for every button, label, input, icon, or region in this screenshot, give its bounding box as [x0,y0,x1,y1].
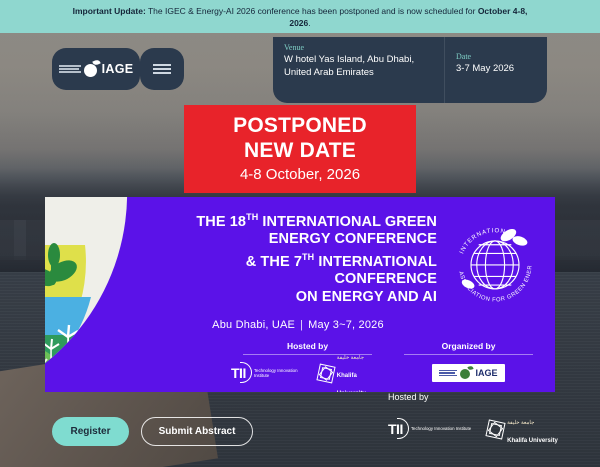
globe-leaf-icon [84,62,99,77]
khalifa-english-text: Khalifa University [337,373,366,392]
footer-hosted-by-label: Hosted by [355,392,585,402]
footer-tii-logo: TII Technology Innovation Institute [388,421,471,437]
announcement-text: Important Update: The IGEC & Energy-AI 2… [65,5,535,29]
hero-location: Abu Dhabi, UAE [212,319,295,331]
khalifa-mark-icon [316,363,335,383]
iage-subtext-icon [439,370,457,376]
register-button[interactable]: Register [52,417,129,446]
khalifa-arabic-text: جامعة خليفة [337,355,364,361]
iage-organizer-text: IAGE [475,368,497,378]
footer-tii-words-text: Technology Innovation Institute [411,426,471,431]
hosted-by-block: Hosted by TII Technology Innovation Inst… [231,341,384,386]
postponed-banner: POSTPONED NEW DATE 4-8 October, 2026 [184,105,416,193]
title-line2: ENERGY CONFERENCE [269,231,437,247]
venue-block: Venue W hotel Yas Island, Abu Dhabi, Uni… [273,37,445,103]
iage-organizer-logo: IAGE [432,364,504,382]
postponed-line2: NEW DATE [244,138,356,163]
announcement-trailing: . [308,18,310,28]
postponed-new-date: 4-8 October, 2026 [240,163,360,186]
tii-mark-text: TII [231,365,251,381]
footer-khalifa-arabic-text: جامعة خليفة [507,420,534,426]
hero-dates: May 3~7, 2026 [308,319,384,331]
date-block: Date 3-7 May 2026 [445,37,547,103]
title-line5: ON ENERGY AND AI [296,289,437,305]
announcement-bar: Important Update: The IGEC & Energy-AI 2… [0,0,600,33]
khalifa-university-logo: جامعة خليفة Khalifa University [318,346,384,392]
tii-logo: TII Technology Innovation Institute [231,365,309,381]
cta-buttons: Register Submit Abstract [52,417,253,446]
hero-partners: Hosted by TII Technology Innovation Inst… [231,341,545,386]
organized-by-block: Organized by IAGE [392,341,545,386]
date-value: 3-7 May 2026 [456,63,537,76]
title-line1b: INTERNATIONAL GREEN [258,214,437,230]
hero-separator: | [300,319,303,331]
organized-by-divider [404,354,533,355]
organized-by-label: Organized by [392,341,545,351]
iage-logo-subtext-icon [59,65,81,73]
title-line3b: INTERNATIONAL [314,254,437,270]
event-info-card: Venue W hotel Yas Island, Abu Dhabi, Uni… [273,37,547,103]
conference-location-dates: Abu Dhabi, UAE|May 3~7, 2026 [159,319,437,331]
venue-value: W hotel Yas Island, Abu Dhabi, United Ar… [284,54,434,79]
iage-logo[interactable]: IAGE [52,48,140,90]
iage-globe-icon [460,367,472,379]
footer-khalifa-english-text: Khalifa University [507,438,558,444]
submit-abstract-button[interactable]: Submit Abstract [141,417,253,446]
title-sup-18th: TH [246,212,258,222]
conference-title: THE 18TH INTERNATIONAL GREEN ENERGY CONF… [159,209,437,306]
postponed-line1: POSTPONED [233,113,367,138]
announcement-bold-prefix: Important Update: [73,6,146,16]
announcement-body: The IGEC & Energy-AI 2026 conference has… [146,6,478,16]
title-line3a: & THE 7 [246,254,302,270]
hamburger-menu-icon[interactable] [140,48,184,90]
title-line4: CONFERENCE [334,271,437,287]
date-label: Date [456,52,537,61]
venue-label: Venue [284,43,434,52]
conference-hero-banner: THE 18TH INTERNATIONAL GREEN ENERGY CONF… [45,197,555,392]
footer-khalifa-mark-icon [486,419,506,439]
title-line1: THE 18 [196,214,246,230]
iage-logo-text: IAGE [102,62,134,76]
title-sup-7th: TH [302,252,314,262]
footer-hosted-by: Hosted by TII Technology Innovation Inst… [355,392,585,447]
footer-khalifa-university-logo: جامعة خليفة Khalifa University [487,411,558,447]
footer-tii-mark-text: TII [388,421,408,437]
tii-words-text: Technology Innovation Institute [254,368,309,378]
site-header: IAGE Venue W hotel Yas Island, Abu Dhabi… [0,33,600,103]
iage-emblem-icon: INTERNATIONAL ASSOCIATION FOR GREEN ENER… [447,215,543,311]
